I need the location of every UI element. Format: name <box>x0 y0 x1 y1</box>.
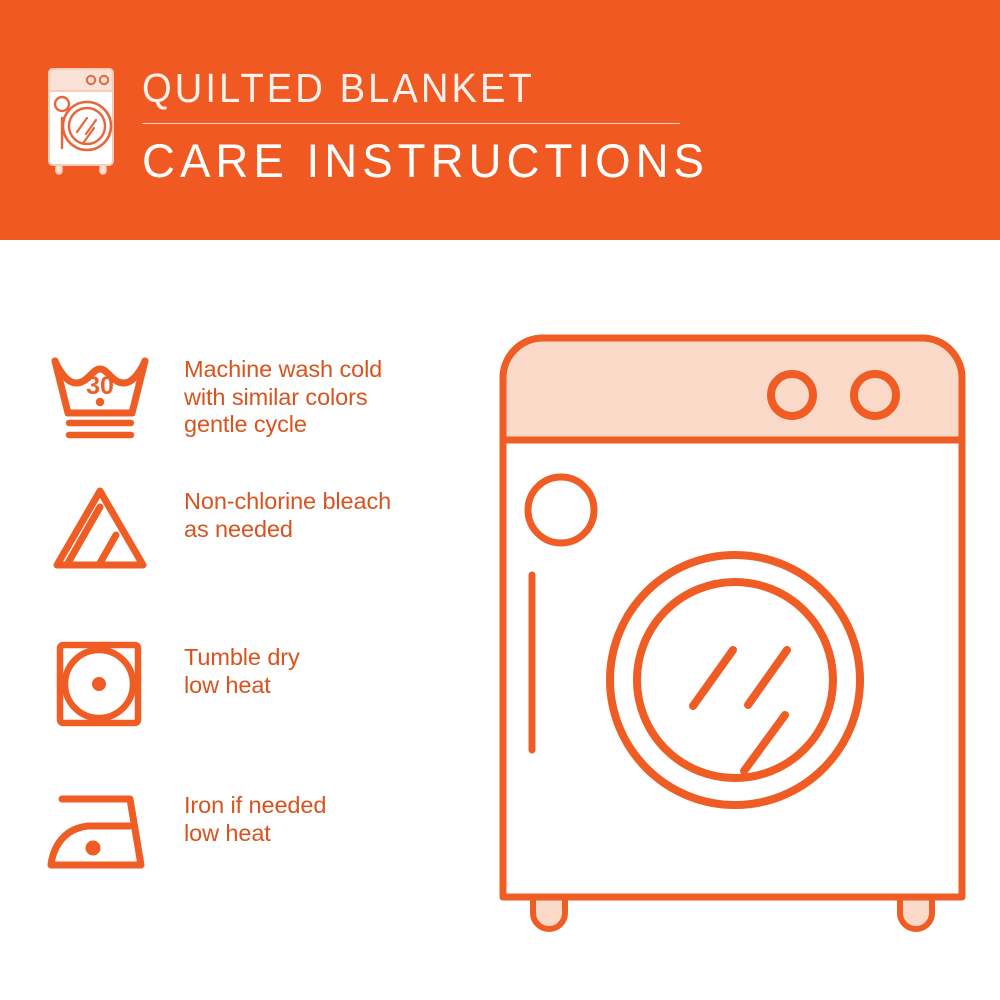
wash-tub-30-icon: 30 <box>46 350 172 442</box>
care-instructions-card: QUILTED BLANKET CARE INSTRUCTIONS 30 <box>0 0 1000 1000</box>
instruction-line: low heat <box>184 820 326 848</box>
instruction-line: Non-chlorine bleach <box>184 488 391 516</box>
list-item: Tumble dry low heat <box>46 638 476 730</box>
iron-low-heat-icon <box>46 786 172 878</box>
instruction-line: gentle cycle <box>184 411 382 439</box>
list-item-text: Non-chlorine bleach as needed <box>184 482 391 543</box>
instruction-line: with similar colors <box>184 384 382 412</box>
instruction-line: Machine wash cold <box>184 356 382 384</box>
instruction-line: Iron if needed <box>184 792 326 820</box>
washing-machine-icon <box>44 64 122 178</box>
header-title-group: QUILTED BLANKET CARE INSTRUCTIONS <box>142 68 702 184</box>
page-title-primary: QUILTED BLANKET <box>142 68 663 109</box>
list-item: Iron if needed low heat <box>46 786 476 878</box>
front-load-washing-machine-illustration <box>495 330 970 935</box>
wash-temperature-label: 30 <box>86 372 114 400</box>
care-instruction-list: 30 Machine wash cold with similar colors… <box>0 240 500 1000</box>
list-item-text: Iron if needed low heat <box>184 786 326 847</box>
instruction-line: as needed <box>184 516 391 544</box>
list-item: Non-chlorine bleach as needed <box>46 482 476 574</box>
instruction-line: Tumble dry <box>184 644 300 672</box>
instruction-line: low heat <box>184 672 300 700</box>
page-title-secondary: CARE INSTRUCTIONS <box>142 137 685 184</box>
title-divider <box>142 123 680 124</box>
tumble-dry-low-icon <box>46 638 172 730</box>
list-item-text: Machine wash cold with similar colors ge… <box>184 350 382 439</box>
bleach-triangle-icon <box>46 482 172 574</box>
list-item: 30 Machine wash cold with similar colors… <box>46 350 476 442</box>
header-banner: QUILTED BLANKET CARE INSTRUCTIONS <box>0 0 1000 240</box>
list-item-text: Tumble dry low heat <box>184 638 300 699</box>
